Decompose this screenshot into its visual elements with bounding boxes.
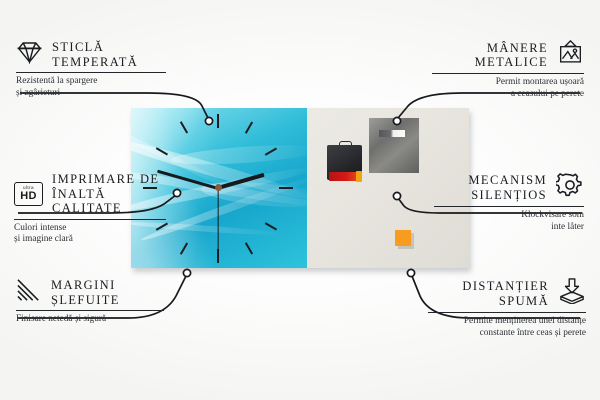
feature-polished-edges: MARGINI ȘLEFUITE Finisare netedă și sigu… <box>16 278 166 326</box>
clock-tick <box>245 121 253 133</box>
clock-tick <box>180 242 188 254</box>
feature-subtitle: Klockvisare som inte låter <box>434 210 584 233</box>
divider <box>434 206 584 207</box>
press-down-icon <box>558 278 586 309</box>
feature-title: MECANISM SILENȚIOS <box>468 173 547 202</box>
feature-high-quality-print: ultra HD IMPRIMARE DE ÎNALTĂ CALITATE Cu… <box>14 172 169 246</box>
hanging-picture-icon <box>557 40 584 70</box>
diamond-icon <box>16 40 43 69</box>
clock-tick <box>279 187 293 189</box>
divider <box>428 312 586 313</box>
divider <box>16 310 164 311</box>
feature-title: MARGINI ȘLEFUITE <box>51 278 120 307</box>
feature-tempered-glass: STICLĂ TEMPERATĂ Rezistentă la spargere … <box>16 40 166 99</box>
feature-subtitle: Culori intense și imagine clară <box>14 223 169 246</box>
feature-title: IMPRIMARE DE ÎNALTĂ CALITATE <box>52 172 169 216</box>
feature-title: STICLĂ TEMPERATĂ <box>52 40 138 69</box>
metal-hanger-plate <box>369 118 419 173</box>
mechanism-body <box>327 145 362 180</box>
gear-icon <box>556 172 584 203</box>
ultra-hd-main-label: HD <box>20 191 37 202</box>
clock-tick <box>217 114 219 128</box>
feature-title: MÂNERE METALICE <box>475 41 548 70</box>
ultra-hd-icon: ultra HD <box>14 182 43 206</box>
infographic-canvas: STICLĂ TEMPERATĂ Rezistentă la spargere … <box>0 0 600 400</box>
clock-mechanism <box>327 141 362 180</box>
feature-subtitle: Permite menținerea unei distanțe constan… <box>428 316 586 339</box>
clock-tick <box>180 121 188 133</box>
divider <box>14 219 166 220</box>
polished-edge-icon <box>16 278 42 307</box>
feature-silent-mechanism: MECANISM SILENȚIOS Klockvisare som inte … <box>434 172 584 233</box>
feature-subtitle: Finisare netedă și sigură <box>16 314 166 326</box>
feature-subtitle: Permit montarea ușoară a ceasului pe per… <box>432 77 584 100</box>
clock-tick <box>265 223 277 231</box>
divider <box>16 72 166 73</box>
battery-terminal <box>356 171 362 182</box>
feature-subtitle: Rezistentă la spargere și zgârieturi <box>16 76 166 99</box>
feature-metal-handles: MÂNERE METALICE Permit montarea ușoară a… <box>432 40 584 100</box>
clock-second-hand <box>217 188 218 254</box>
divider <box>432 73 584 74</box>
foam-spacer <box>395 230 411 246</box>
feature-foam-spacer: DISTANȚIER SPUMĂ Permite menținerea unei… <box>428 278 586 339</box>
product-photo <box>131 108 469 268</box>
hanger-slot <box>379 130 405 137</box>
feature-title: DISTANȚIER SPUMĂ <box>462 279 549 308</box>
clock-center-hub <box>215 184 222 191</box>
clock-tick <box>245 242 253 254</box>
